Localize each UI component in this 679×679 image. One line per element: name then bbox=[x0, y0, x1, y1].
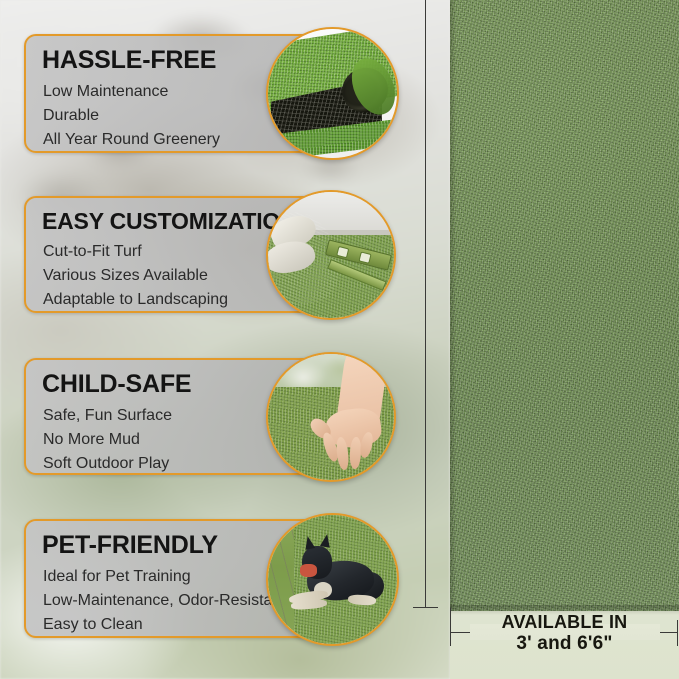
feature-bullet: Ideal for Pet Training bbox=[43, 565, 286, 589]
feature-bullet: Various Sizes Available bbox=[43, 264, 228, 288]
feature-bullet: All Year Round Greenery bbox=[43, 128, 220, 152]
feature-bullet: Durable bbox=[43, 104, 220, 128]
turf-installation-photo bbox=[266, 190, 396, 320]
feature-bullet: Safe, Fun Surface bbox=[43, 404, 172, 428]
feature-bullets: Ideal for Pet Training Low-Maintenance, … bbox=[43, 565, 286, 637]
feature-bullet: Adaptable to Landscaping bbox=[43, 288, 228, 312]
vertical-dimension-end-cap bbox=[413, 607, 438, 608]
feature-bullet: No More Mud bbox=[43, 428, 172, 452]
turf-strip-sample bbox=[450, 0, 679, 611]
available-sizes-block: AVAILABLE IN 3' and 6'6" bbox=[450, 613, 679, 654]
available-heading: AVAILABLE IN bbox=[450, 613, 679, 632]
dog-on-turf-photo bbox=[266, 513, 399, 646]
feature-title: HASSLE-FREE bbox=[42, 46, 216, 75]
feature-bullet: Low Maintenance bbox=[43, 80, 220, 104]
rolled-turf-photo bbox=[266, 27, 399, 160]
feature-bullet: Low-Maintenance, Odor-Resistant bbox=[43, 589, 286, 613]
feature-bullets: Safe, Fun Surface No More Mud Soft Outdo… bbox=[43, 404, 172, 476]
product-infographic: 2' to 30' CUSTOMIZABLE AVAILABLE IN 3' a… bbox=[0, 0, 679, 679]
feature-title: PET-FRIENDLY bbox=[42, 531, 218, 560]
feature-bullets: Low Maintenance Durable All Year Round G… bbox=[43, 80, 220, 152]
feature-bullet: Easy to Clean bbox=[43, 613, 286, 637]
feature-bullet: Cut-to-Fit Turf bbox=[43, 240, 228, 264]
child-hand-on-turf-photo bbox=[266, 352, 396, 482]
feature-bullets: Cut-to-Fit Turf Various Sizes Available … bbox=[43, 240, 228, 312]
feature-bullet: Soft Outdoor Play bbox=[43, 452, 172, 476]
available-sizes-value: 3' and 6'6" bbox=[450, 634, 679, 654]
turf-strip-left-shadow bbox=[450, 0, 456, 611]
vertical-dimension-line bbox=[425, 0, 426, 608]
feature-title: CHILD-SAFE bbox=[42, 370, 191, 399]
feature-title: EASY CUSTOMIZATION bbox=[42, 208, 297, 235]
